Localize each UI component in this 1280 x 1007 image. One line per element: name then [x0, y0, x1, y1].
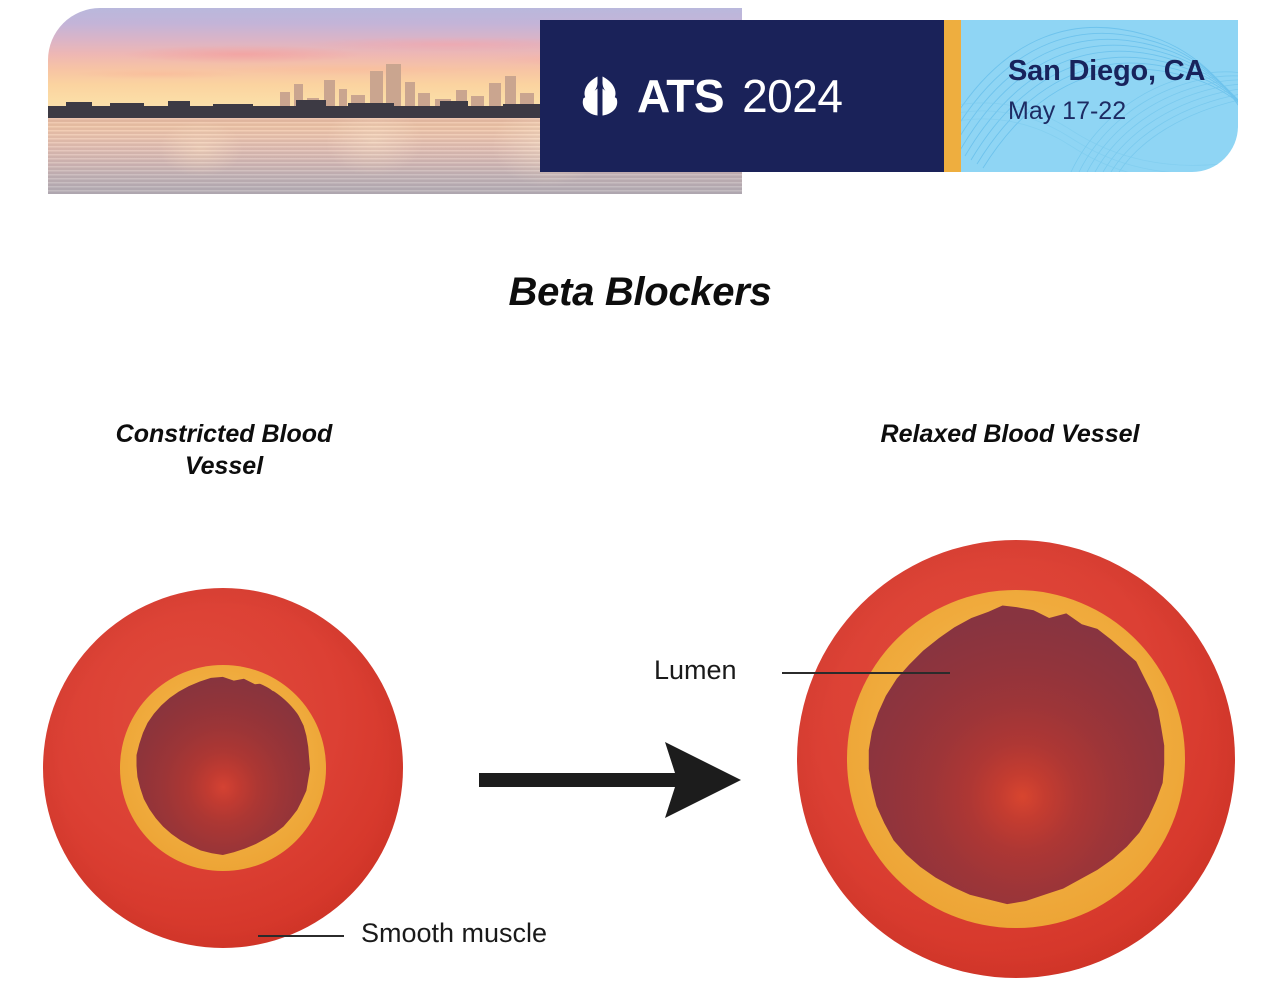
ats-lung-leaf-mark — [576, 73, 624, 119]
wave-line-art — [961, 20, 1238, 172]
lumen-leader-line — [782, 672, 950, 674]
ats-year: 2024 — [742, 73, 842, 119]
lumen-label: Lumen — [654, 657, 737, 684]
conference-dates: May 17-22 — [1008, 99, 1126, 124]
ats-logo-panel: ATS 2024 — [540, 20, 944, 172]
gold-divider-bar — [944, 20, 961, 172]
constricted-blood-vessel-diagram — [43, 588, 403, 948]
constricted-vessel-caption: Constricted Blood Vessel — [78, 418, 370, 482]
page-title: Beta Blockers — [0, 270, 1280, 315]
ats-acronym: ATS — [637, 73, 724, 119]
ats-conference-banner: ATS 2024 — [48, 8, 1238, 194]
relaxed-blood-vessel-diagram — [797, 540, 1235, 978]
rightward-transition-arrow — [479, 740, 741, 820]
ats-logo-lockup: ATS 2024 — [576, 73, 842, 119]
conference-city: San Diego, CA — [1008, 57, 1205, 86]
smooth-muscle-label: Smooth muscle — [361, 920, 547, 947]
smooth-muscle-leader-line — [258, 935, 344, 937]
relaxed-vessel-caption: Relaxed Blood Vessel — [862, 418, 1158, 450]
lumen-area — [861, 604, 1172, 915]
location-panel: San Diego, CA May 17-22 — [961, 20, 1238, 172]
lumen-area — [131, 676, 315, 860]
